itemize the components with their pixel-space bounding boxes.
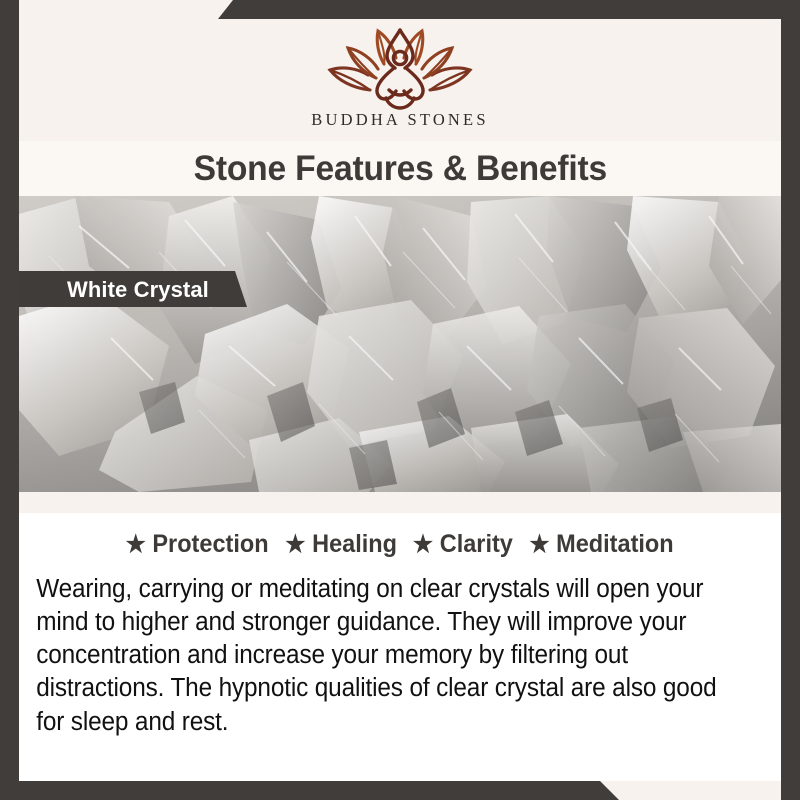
- benefit-protection: ★ Protection: [126, 530, 269, 559]
- benefit-clarity: ★ Clarity: [405, 530, 513, 559]
- white-crystal-cluster-photo: [19, 196, 781, 492]
- stone-label-text: White Crystal: [67, 277, 209, 303]
- star-icon: ★: [413, 533, 433, 557]
- star-icon: ★: [286, 533, 306, 557]
- content-panel: ★ Protection ★ Healing ★ Clarity ★ Medit…: [19, 513, 781, 781]
- page-title: Stone Features & Benefits: [193, 149, 606, 189]
- frame-left-edge: [0, 0, 19, 800]
- frame-top-bar: [0, 0, 800, 19]
- star-icon: ★: [126, 533, 146, 557]
- star-icon: ★: [530, 533, 550, 557]
- hero-image: [19, 196, 781, 492]
- brand-logo-block: BUDDHA STONES: [19, 19, 781, 141]
- title-band: Stone Features & Benefits: [19, 141, 781, 196]
- benefits-row: ★ Protection ★ Healing ★ Clarity ★ Medit…: [19, 513, 781, 559]
- lotus-meditation-icon: [326, 28, 474, 112]
- page-surface: BUDDHA STONES Stone Features & Benefits: [19, 19, 781, 781]
- benefit-label: Clarity: [440, 530, 513, 559]
- benefit-label: Meditation: [557, 530, 675, 559]
- description-text: Wearing, carrying or meditating on clear…: [19, 573, 747, 739]
- brand-wordmark: BUDDHA STONES: [311, 110, 488, 130]
- benefit-label: Protection: [152, 530, 268, 559]
- frame-bottom-bar: [0, 781, 800, 800]
- benefit-label: Healing: [312, 530, 397, 559]
- benefit-healing: ★ Healing: [277, 530, 397, 559]
- benefit-meditation: ★ Meditation: [521, 530, 674, 559]
- product-info-poster: BUDDHA STONES Stone Features & Benefits: [0, 0, 800, 800]
- frame-right-edge: [781, 0, 800, 800]
